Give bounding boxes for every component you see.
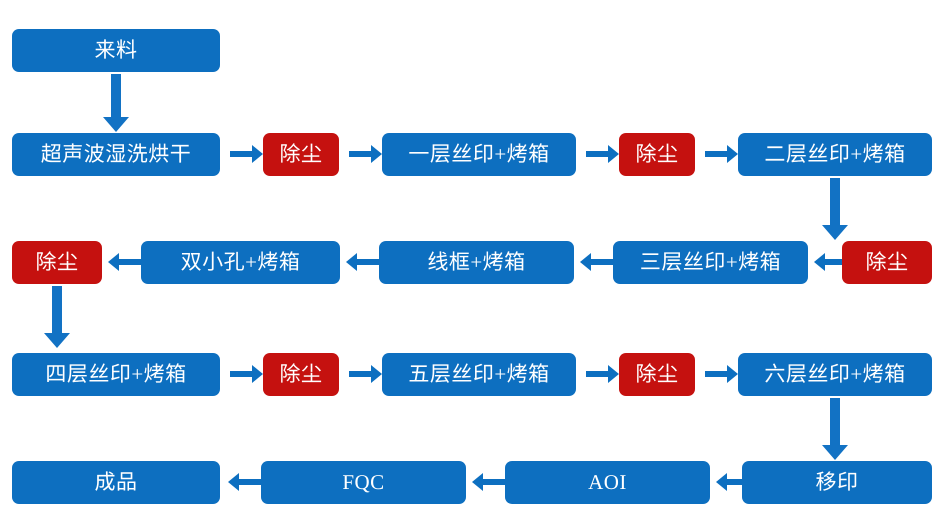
node-label: 除尘 (36, 252, 79, 273)
node-label: FQC (342, 472, 384, 493)
connector-dedust4-to-layer4-arrow-icon (44, 286, 70, 348)
connector-layer6-to-padprint-arrow-icon (822, 398, 848, 460)
node-label: 四层丝印+烤箱 (45, 364, 186, 385)
node-label: 除尘 (866, 252, 909, 273)
node-dedust-4[interactable]: 除尘 (12, 241, 102, 284)
node-label: 除尘 (636, 364, 679, 385)
node-dedust-1[interactable]: 除尘 (263, 133, 339, 176)
node-label: 一层丝印+烤箱 (408, 144, 549, 165)
node-print-layer-2[interactable]: 二层丝印+烤箱 (738, 133, 932, 176)
arrow-right-icon (586, 363, 619, 385)
flowchart-canvas: 来料 超声波湿洗烘干 除尘 一层丝印+烤箱 除尘 二层丝印+烤箱 除尘 (0, 0, 947, 523)
node-print-layer-4[interactable]: 四层丝印+烤箱 (12, 353, 220, 396)
node-label: 移印 (816, 472, 859, 493)
arrow-right-icon (349, 143, 382, 165)
node-label: 除尘 (636, 144, 679, 165)
node-ultrasonic-wash-dry[interactable]: 超声波湿洗烘干 (12, 133, 220, 176)
arrow-left-icon (814, 251, 842, 273)
node-label: 三层丝印+烤箱 (640, 252, 781, 273)
node-label: 除尘 (280, 364, 323, 385)
node-print-layer-5[interactable]: 五层丝印+烤箱 (382, 353, 576, 396)
arrow-left-icon (108, 251, 141, 273)
node-label: 除尘 (280, 144, 323, 165)
node-dedust-3[interactable]: 除尘 (842, 241, 932, 284)
arrow-right-icon (705, 143, 738, 165)
arrow-right-icon (349, 363, 382, 385)
arrow-left-icon (580, 251, 613, 273)
node-dedust-5[interactable]: 除尘 (263, 353, 339, 396)
node-label: 二层丝印+烤箱 (764, 144, 905, 165)
node-incoming-material[interactable]: 来料 (12, 29, 220, 72)
node-wire-frame[interactable]: 线框+烤箱 (379, 241, 574, 284)
arrow-right-icon (586, 143, 619, 165)
node-print-layer-1[interactable]: 一层丝印+烤箱 (382, 133, 576, 176)
node-label: 超声波湿洗烘干 (41, 144, 192, 165)
node-double-small-hole[interactable]: 双小孔+烤箱 (141, 241, 340, 284)
node-label: 成品 (95, 472, 138, 493)
node-dedust-6[interactable]: 除尘 (619, 353, 695, 396)
node-label: 双小孔+烤箱 (181, 252, 301, 273)
node-dedust-2[interactable]: 除尘 (619, 133, 695, 176)
arrow-left-icon (472, 471, 505, 493)
node-pad-printing[interactable]: 移印 (742, 461, 932, 504)
node-label: AOI (588, 472, 627, 493)
connector-layer2-to-dedust3-arrow-icon (822, 178, 848, 240)
node-label: 六层丝印+烤箱 (764, 364, 905, 385)
node-label: 五层丝印+烤箱 (408, 364, 549, 385)
arrow-right-icon (230, 363, 263, 385)
node-fqc[interactable]: FQC (261, 461, 466, 504)
node-print-layer-6[interactable]: 六层丝印+烤箱 (738, 353, 932, 396)
arrow-right-icon (230, 143, 263, 165)
connector-incoming-to-wash-arrow-icon (103, 74, 129, 132)
arrow-left-icon (346, 251, 379, 273)
node-aoi[interactable]: AOI (505, 461, 710, 504)
arrow-right-icon (705, 363, 738, 385)
node-label: 线框+烤箱 (427, 252, 525, 273)
arrow-left-icon (228, 471, 261, 493)
node-label: 来料 (95, 40, 138, 61)
node-finished-product[interactable]: 成品 (12, 461, 220, 504)
node-print-layer-3[interactable]: 三层丝印+烤箱 (613, 241, 808, 284)
